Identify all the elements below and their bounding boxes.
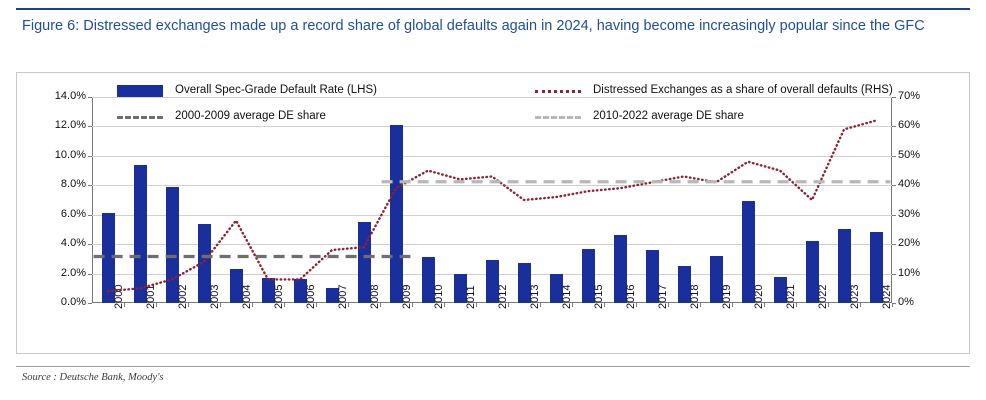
right-axis-tick-label: 30% <box>898 208 958 220</box>
chart-container: Overall Spec-Grade Default Rate (LHS) 20… <box>16 72 970 354</box>
x-tick-mark <box>316 303 317 307</box>
title-top-rule <box>16 8 970 10</box>
x-tick-mark <box>252 303 253 307</box>
figure-title: Figure 6: Distressed exchanges made up a… <box>22 16 952 36</box>
right-tick-mark <box>892 185 896 186</box>
x-tick-mark <box>476 303 477 307</box>
right-tick-mark <box>892 156 896 157</box>
left-tick-mark <box>88 303 92 304</box>
x-tick-mark <box>380 303 381 307</box>
x-tick-mark <box>572 303 573 307</box>
x-tick-mark <box>540 303 541 307</box>
right-tick-mark <box>892 274 896 275</box>
left-axis-tick-label: 2.0% <box>26 267 86 279</box>
right-tick-mark <box>892 97 896 98</box>
left-axis-tick-label: 14.0% <box>26 90 86 102</box>
right-axis-tick-label: 0% <box>898 296 958 308</box>
left-axis-tick-label: 10.0% <box>26 149 86 161</box>
right-axis-tick-label: 20% <box>898 237 958 249</box>
line-overlay <box>92 97 892 303</box>
source-rule <box>16 366 970 367</box>
x-tick-mark <box>444 303 445 307</box>
source-note: Source : Deutsche Bank, Moody's <box>22 372 164 383</box>
left-axis-tick-label: 0.0% <box>26 296 86 308</box>
right-tick-mark <box>892 244 896 245</box>
figure-page: Figure 6: Distressed exchanges made up a… <box>0 0 986 400</box>
x-tick-mark <box>188 303 189 307</box>
x-tick-mark <box>604 303 605 307</box>
legend-swatch-dotted-icon <box>535 90 581 93</box>
x-tick-mark <box>828 303 829 307</box>
legend-swatch-bar-icon <box>117 85 163 97</box>
legend-label-1: Distressed Exchanges as a share of overa… <box>593 84 893 96</box>
x-tick-mark <box>124 303 125 307</box>
x-tick-mark <box>764 303 765 307</box>
x-tick-mark <box>732 303 733 307</box>
plot-area: 0.0%0%2.0%10%4.0%20%6.0%30%8.0%40%10.0%5… <box>92 97 892 303</box>
x-tick-mark <box>636 303 637 307</box>
right-tick-mark <box>892 215 896 216</box>
right-tick-mark <box>892 126 896 127</box>
distressed-exchange-share-line <box>108 121 876 292</box>
x-tick-mark <box>668 303 669 307</box>
x-tick-mark <box>508 303 509 307</box>
x-tick-mark <box>412 303 413 307</box>
right-axis-tick-label: 70% <box>898 90 958 102</box>
left-axis-tick-label: 6.0% <box>26 208 86 220</box>
x-tick-mark <box>284 303 285 307</box>
left-axis-tick-label: 8.0% <box>26 178 86 190</box>
x-tick-mark <box>700 303 701 307</box>
x-tick-mark <box>348 303 349 307</box>
x-tick-mark <box>860 303 861 307</box>
x-tick-mark <box>156 303 157 307</box>
right-axis-tick-label: 50% <box>898 149 958 161</box>
x-tick-mark <box>220 303 221 307</box>
x-tick-mark <box>892 303 893 307</box>
legend-label-0: Overall Spec-Grade Default Rate (LHS) <box>175 84 377 96</box>
right-axis-tick-label: 60% <box>898 119 958 131</box>
x-tick-mark <box>796 303 797 307</box>
left-axis-tick-label: 12.0% <box>26 119 86 131</box>
right-axis-tick-label: 40% <box>898 178 958 190</box>
right-axis-tick-label: 10% <box>898 267 958 279</box>
left-axis-tick-label: 4.0% <box>26 237 86 249</box>
